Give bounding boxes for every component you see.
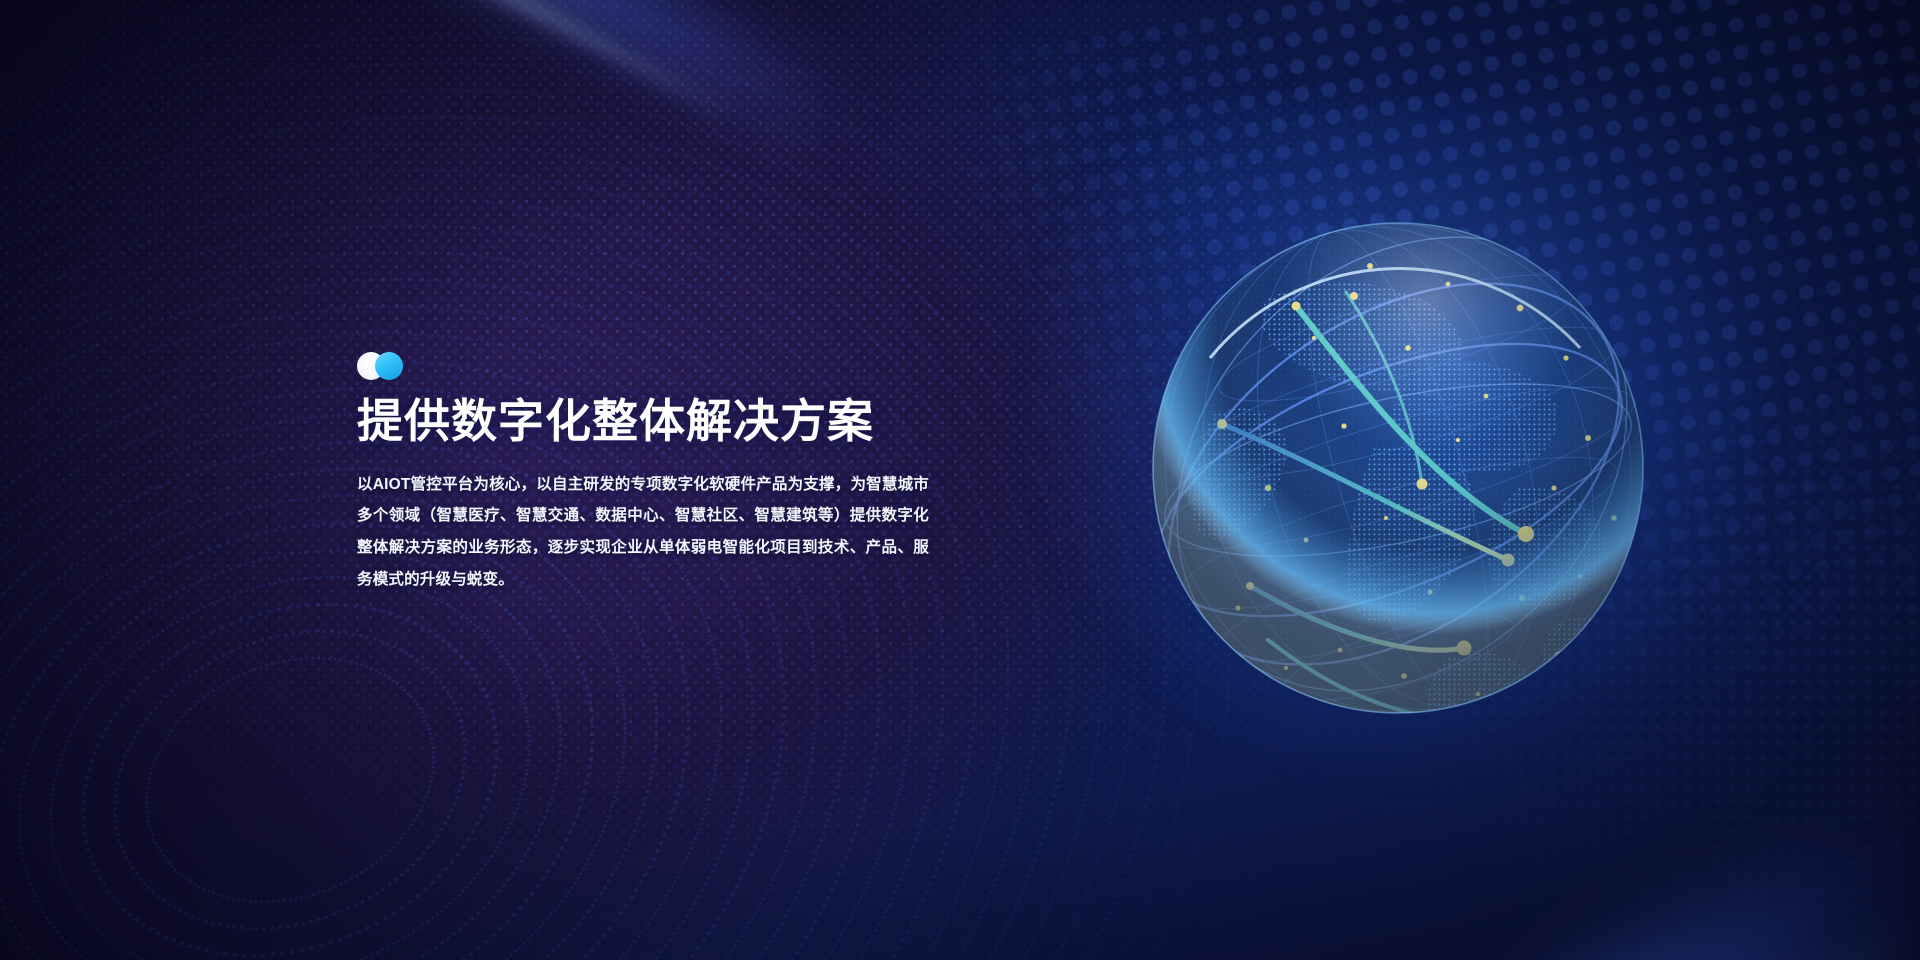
hero-content: 提供数字化整体解决方案 以AIOT管控平台为核心，以自主研发的专项数字化软硬件产… xyxy=(357,352,957,596)
vignette-overlay xyxy=(0,0,1920,960)
logo-circle-blue-icon xyxy=(375,352,403,380)
page-title: 提供数字化整体解决方案 xyxy=(357,396,957,447)
hero-banner: 提供数字化整体解决方案 以AIOT管控平台为核心，以自主研发的专项数字化软硬件产… xyxy=(0,0,1920,960)
hero-description: 以AIOT管控平台为核心，以自主研发的专项数字化软硬件产品为支撑，为智慧城市多个… xyxy=(357,469,929,596)
logo-mark xyxy=(357,352,419,380)
